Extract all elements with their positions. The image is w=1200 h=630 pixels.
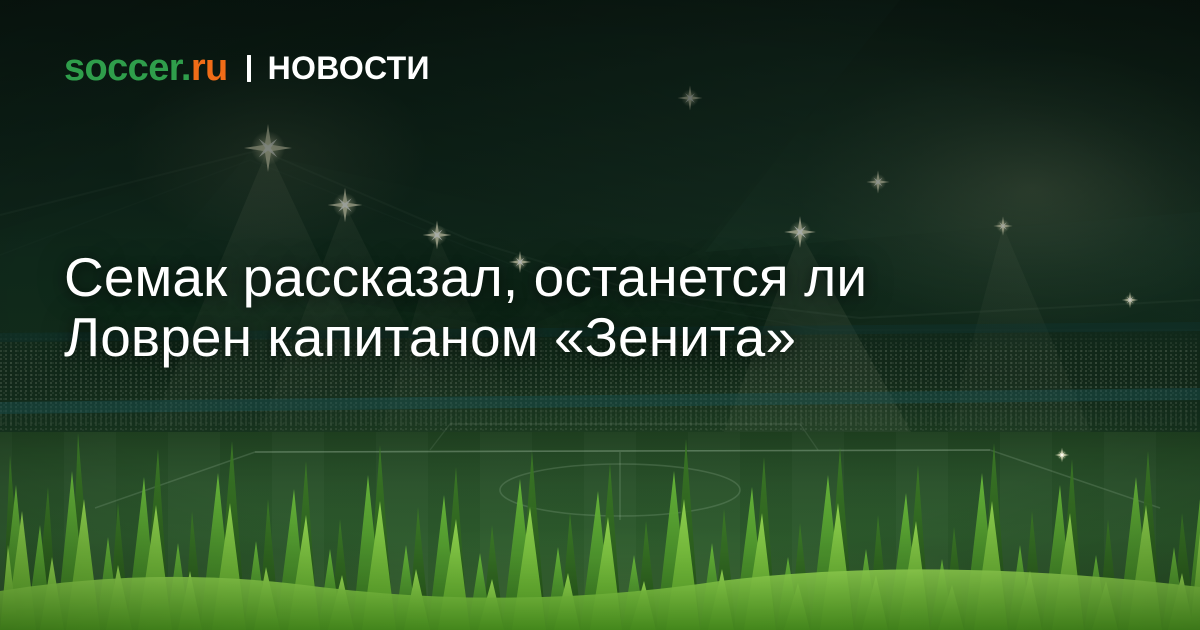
grass-foreground [0, 415, 1200, 630]
card-header: soccer.ru НОВОСТИ [64, 44, 430, 92]
header-separator-icon [247, 55, 251, 82]
headline-line-2: Ловрен капитаном «Зенита» [64, 307, 1044, 367]
section-label-news: НОВОСТИ [268, 52, 430, 84]
logo-text-soccer: soccer [64, 47, 181, 89]
soccer-ru-logo[interactable]: soccer.ru [64, 49, 228, 87]
social-share-card: soccer.ru НОВОСТИ Семак рассказал, остан… [0, 0, 1200, 630]
logo-text-ru: ru [191, 47, 228, 89]
page-title: Семак рассказал, останется ли Ловрен кап… [64, 247, 1044, 367]
logo-text-dot: . [181, 47, 191, 89]
headline-line-1: Семак рассказал, останется ли [64, 247, 1044, 307]
